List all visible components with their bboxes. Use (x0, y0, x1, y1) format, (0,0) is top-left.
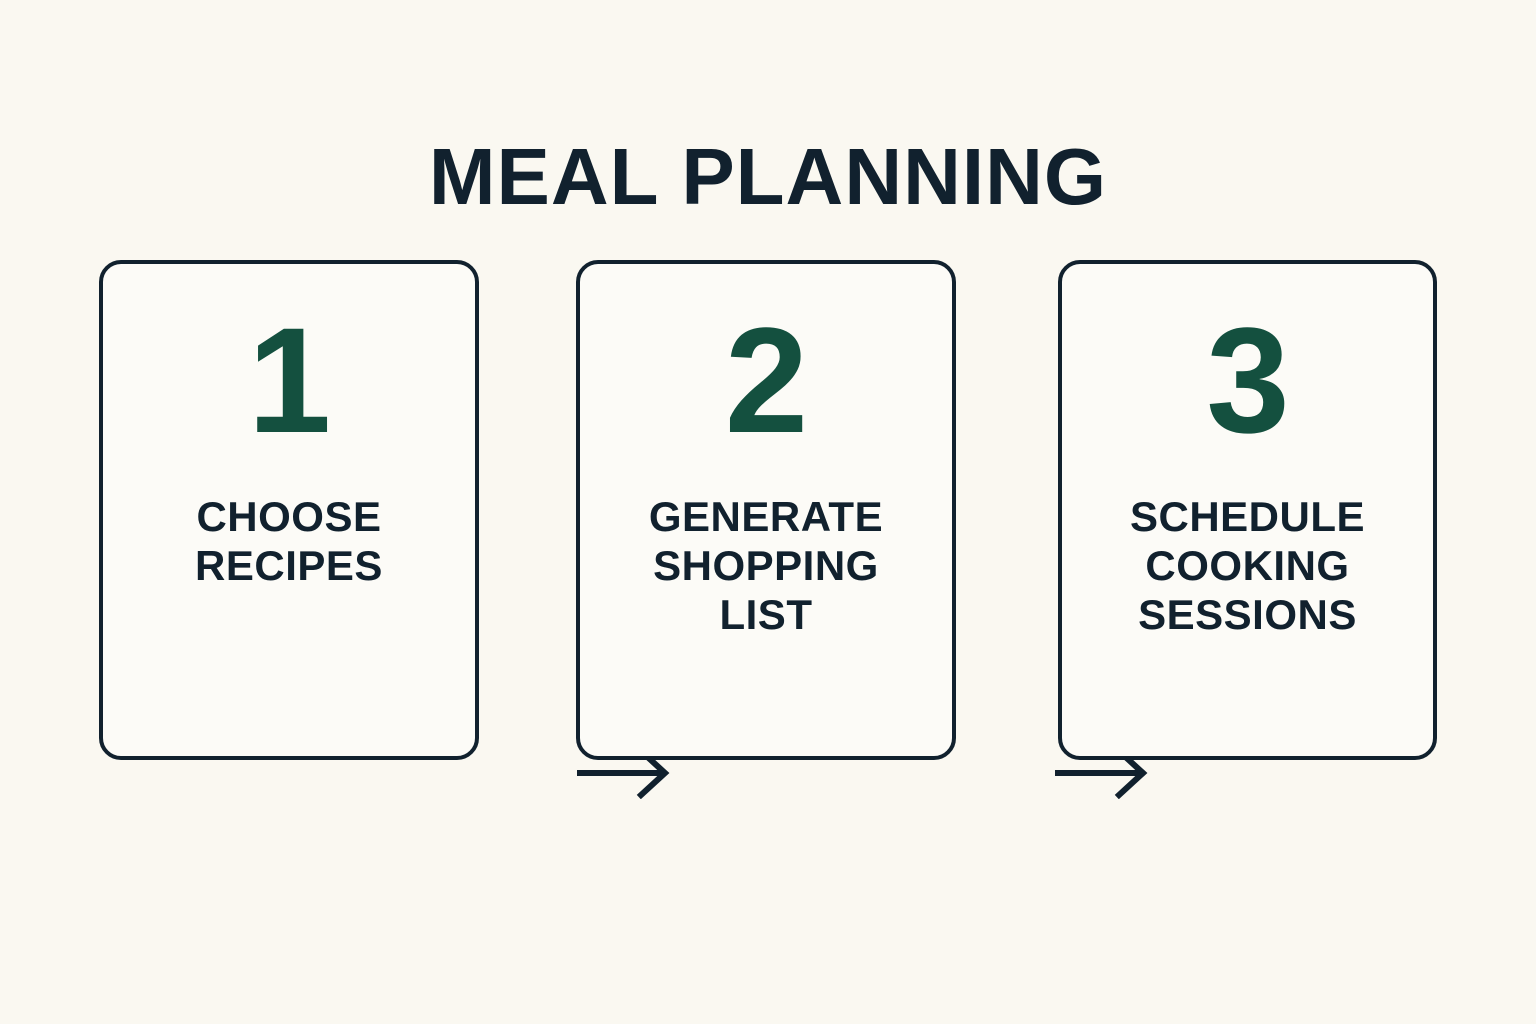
step-card-1[interactable]: 1 CHOOSE RECIPES (99, 260, 479, 760)
step-number-3: 3 (1206, 302, 1288, 460)
step-card-3[interactable]: 3 SCHEDULE COOKING SESSIONS (1058, 260, 1437, 760)
infographic-canvas: MEAL PLANNING 1 CHOOSE RECIPES 2 GENERAT… (0, 0, 1536, 1024)
process-flow-diagram: 1 CHOOSE RECIPES 2 GENERATE SHOPPING LIS… (99, 260, 1437, 760)
page-title: MEAL PLANNING (0, 137, 1536, 217)
step-label-1: CHOOSE RECIPES (118, 492, 460, 590)
step-card-2[interactable]: 2 GENERATE SHOPPING LIST (576, 260, 956, 760)
step-number-1: 1 (248, 302, 330, 460)
step-number-2: 2 (725, 302, 807, 460)
step-label-2: GENERATE SHOPPING LIST (595, 492, 937, 639)
step-label-3: SCHEDULE COOKING SESSIONS (1077, 492, 1418, 639)
